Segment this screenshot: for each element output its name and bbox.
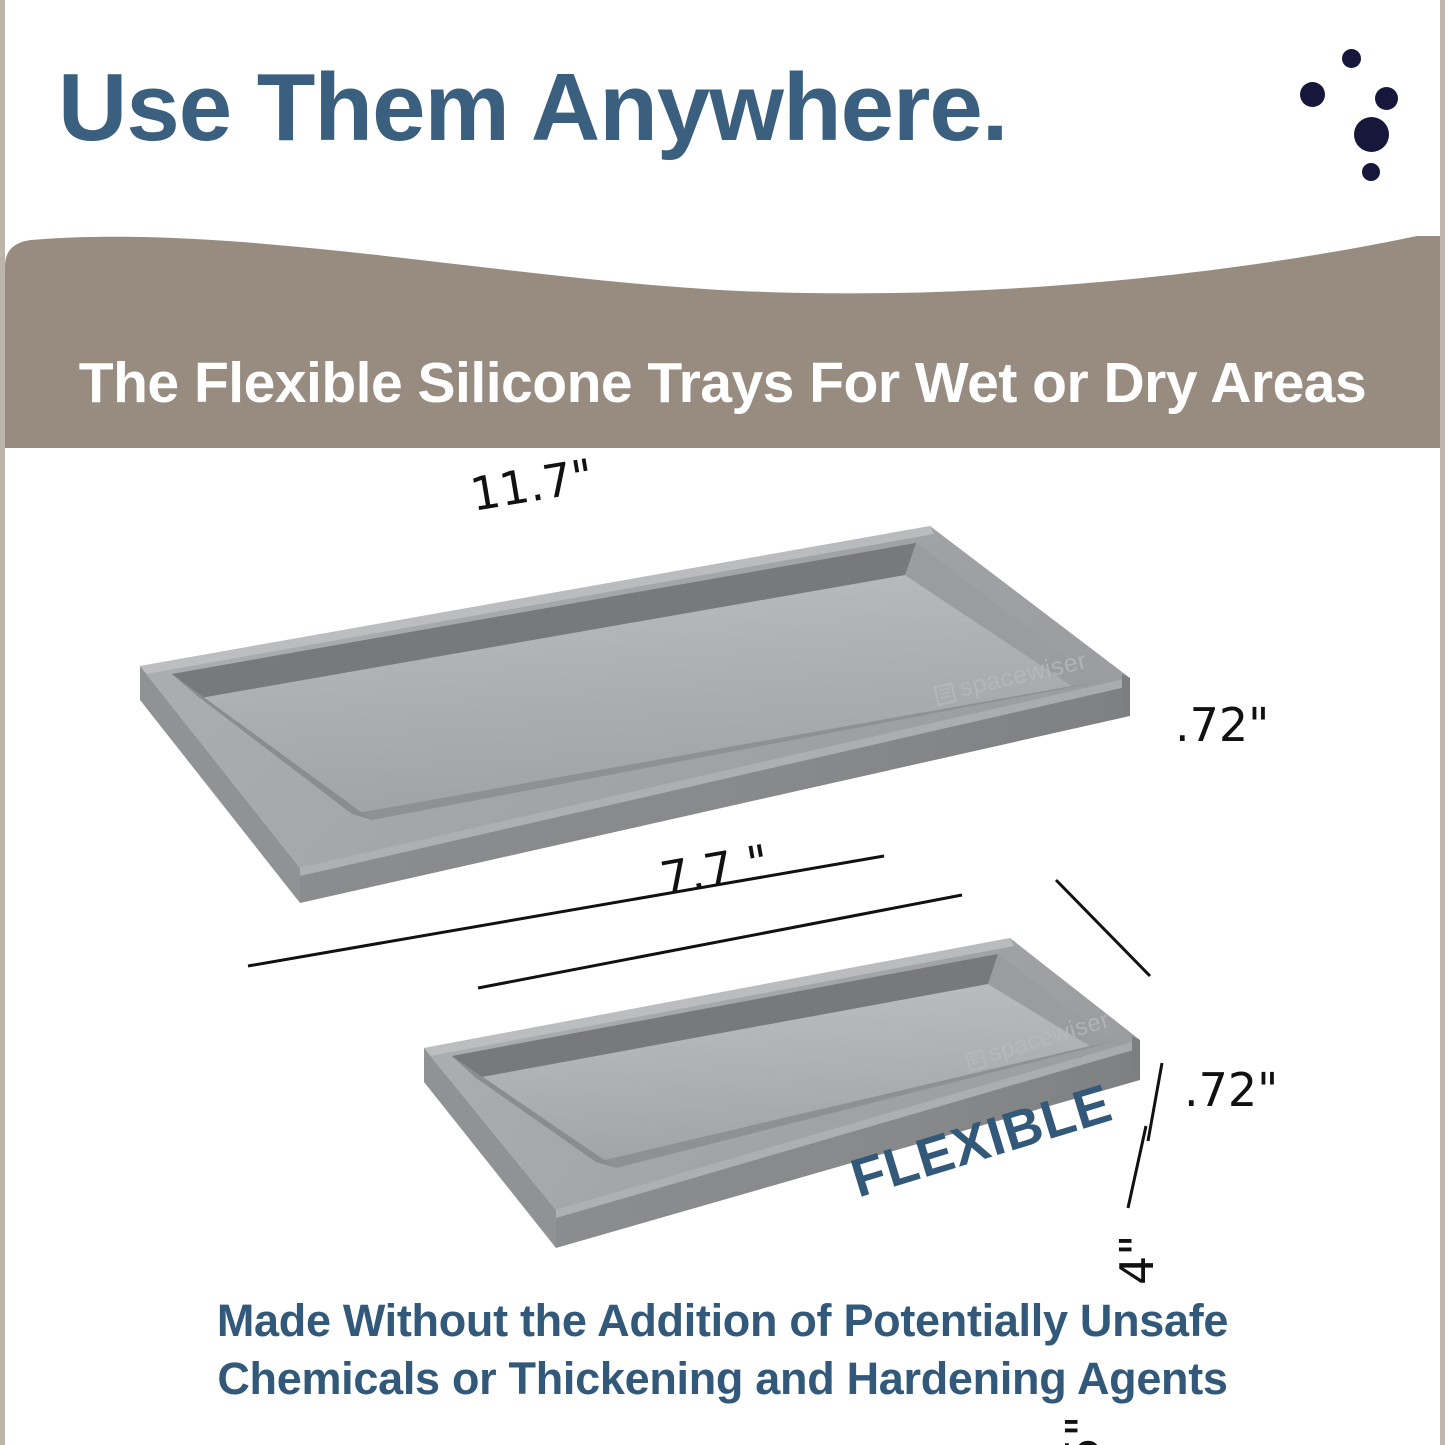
decorative-dots-cluster <box>1300 25 1430 175</box>
subtitle-banner: The Flexible Silicone Trays For Wet or D… <box>5 236 1440 448</box>
dimension-line-height-large <box>1128 1126 1146 1208</box>
decorative-dot <box>1342 49 1361 68</box>
label-height-large: .72" <box>1175 698 1269 752</box>
footer-line-1: Made Without the Addition of Potentially… <box>0 1292 1445 1350</box>
banner-subtitle: The Flexible Silicone Trays For Wet or D… <box>5 236 1440 448</box>
dimension-line-width-small <box>1056 880 1150 976</box>
label-width-large: 5" <box>1056 1416 1110 1445</box>
product-illustration: spacewiser <box>0 448 1445 1288</box>
decorative-dot <box>1362 163 1380 181</box>
label-width-small: 4" <box>1110 1235 1164 1285</box>
footer-line-2: Chemicals or Thickening and Hardening Ag… <box>0 1350 1445 1408</box>
decorative-dot <box>1375 87 1398 110</box>
decorative-dot <box>1300 82 1325 107</box>
dimension-line-height-small <box>1148 1063 1162 1141</box>
product-infographic: Use Them Anywhere. The Flexible Silicone… <box>0 0 1445 1445</box>
page-title: Use Them Anywhere. <box>58 58 1238 159</box>
label-height-small: .72" <box>1184 1063 1278 1117</box>
small-tray: spacewiser <box>424 880 1162 1248</box>
decorative-dot <box>1354 117 1389 152</box>
footer-claim: Made Without the Addition of Potentially… <box>0 1292 1445 1407</box>
